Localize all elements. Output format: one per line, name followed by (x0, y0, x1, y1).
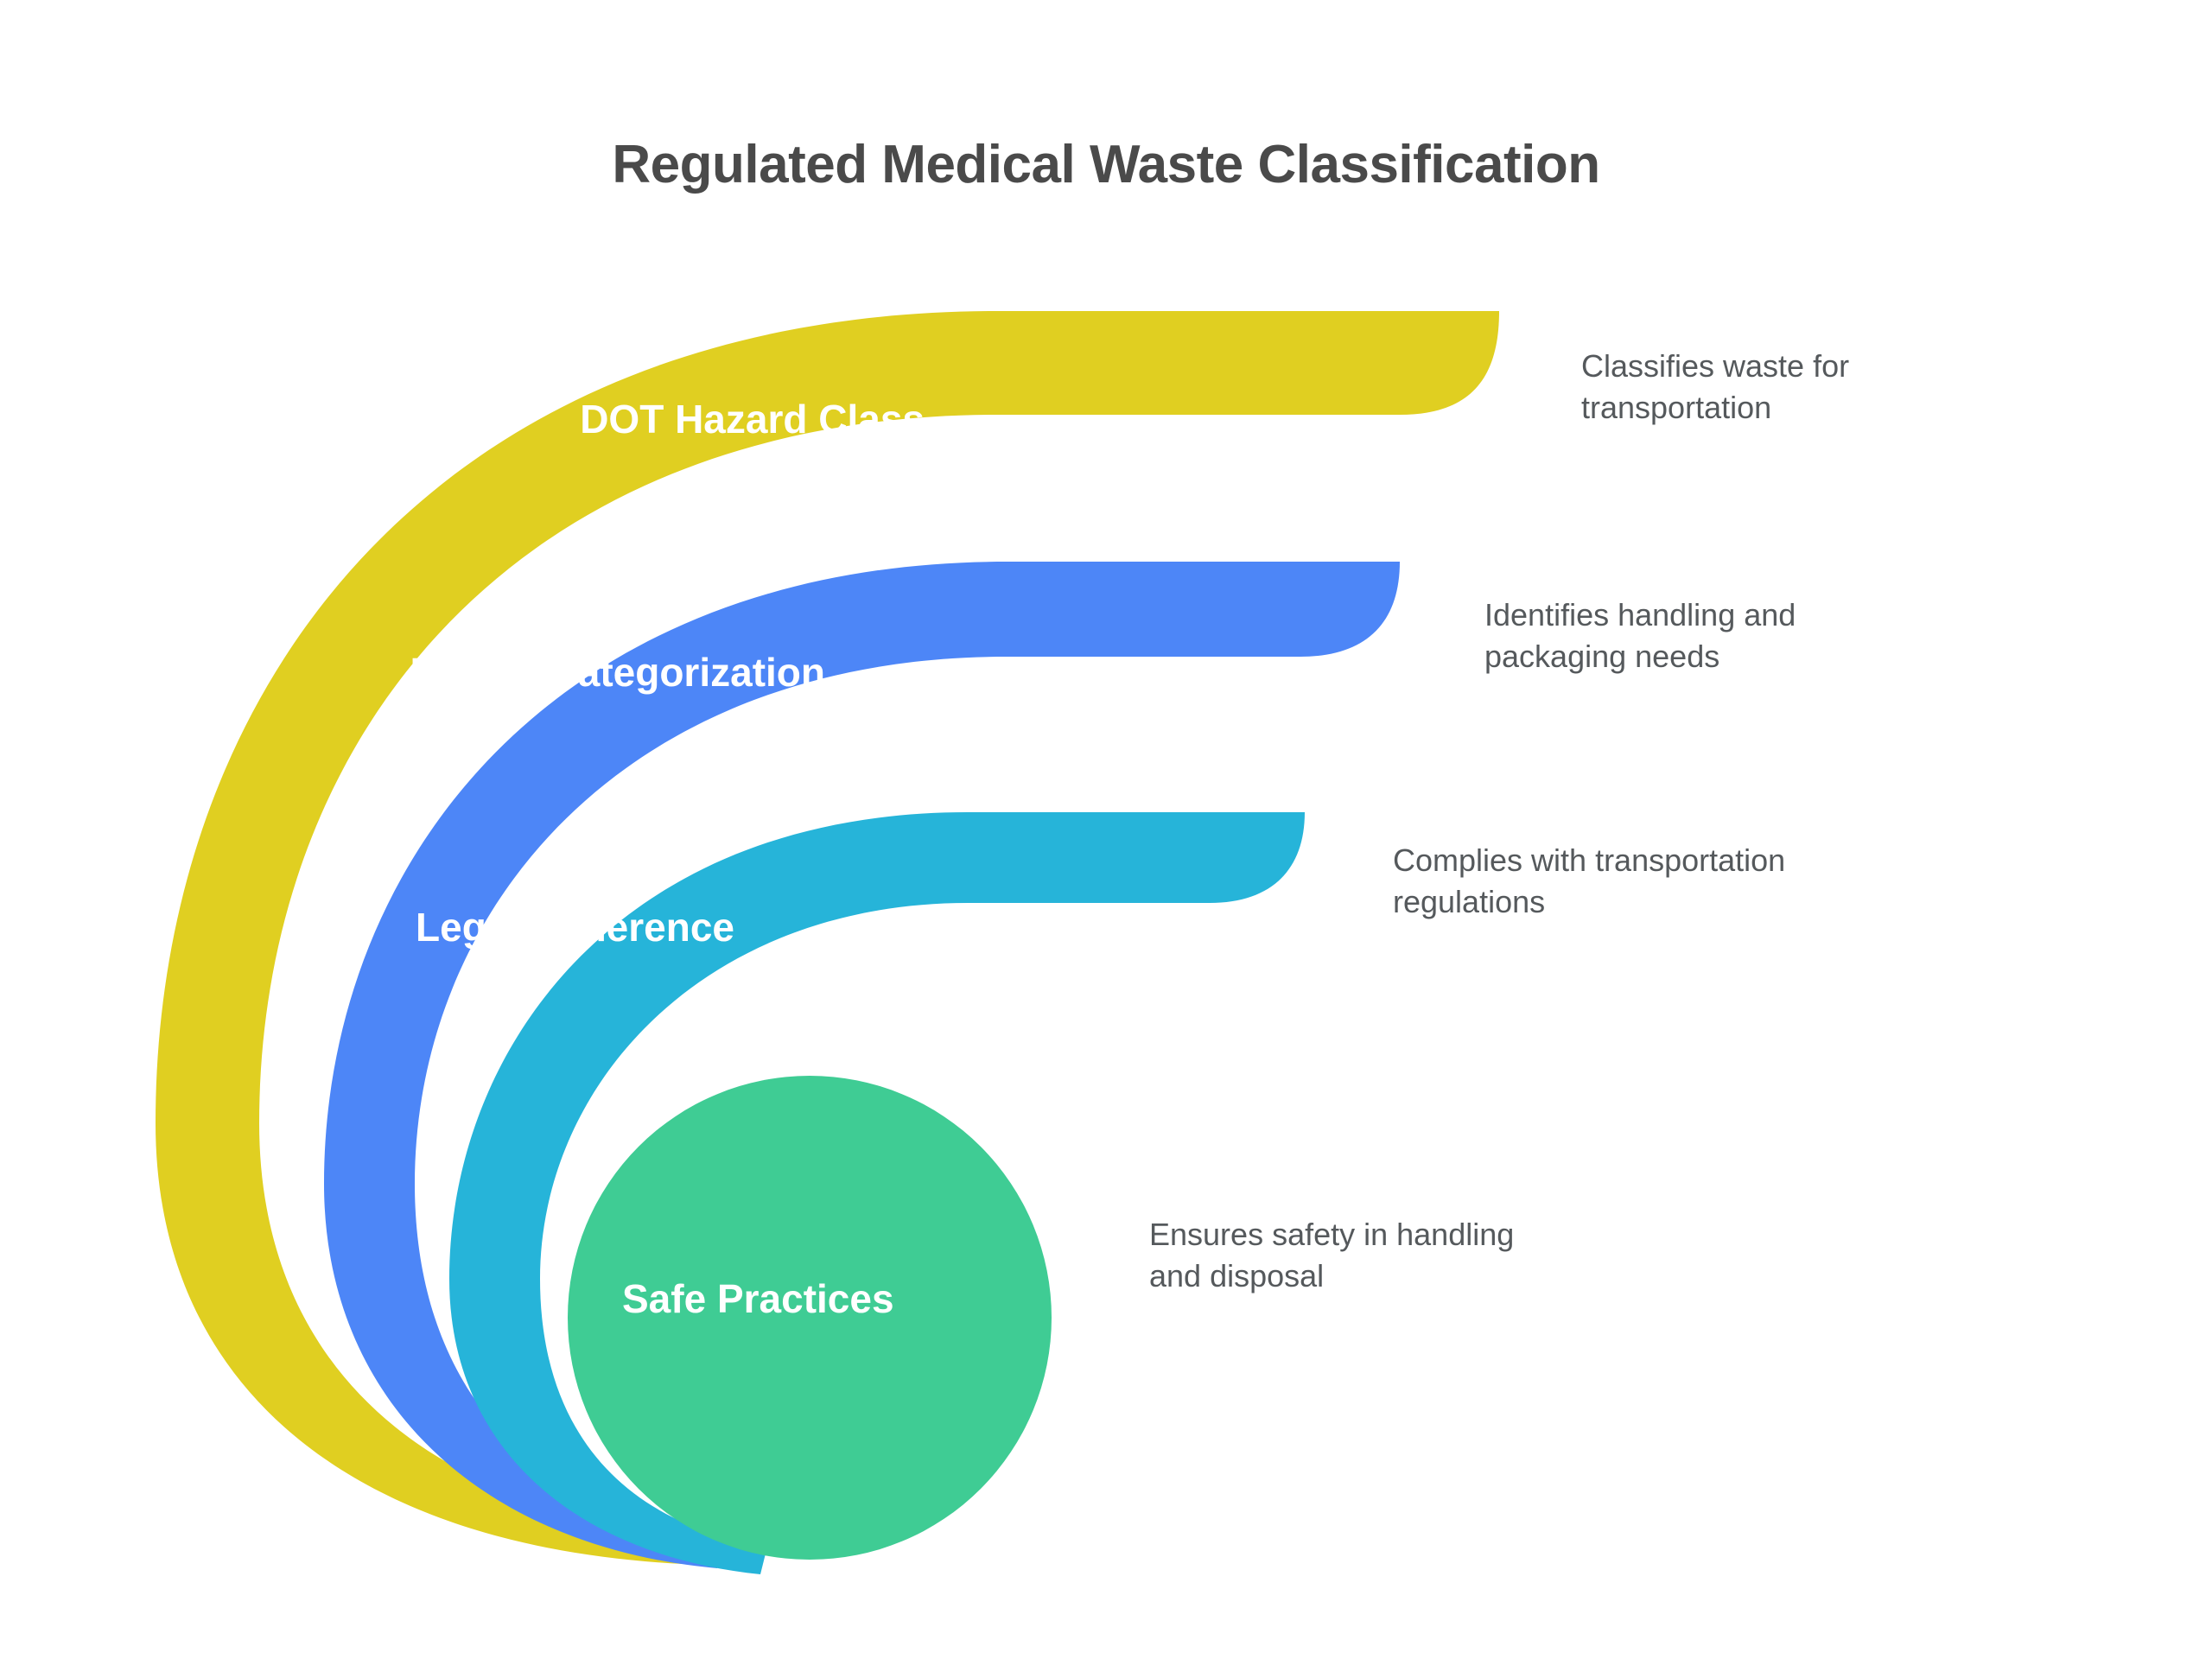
layer-description-legal-adherence: Complies with transportation regulations (1393, 840, 1785, 922)
layer-description-dot-hazard-class: Classifies waste for transportation (1581, 346, 1849, 428)
layer-label-safe-practices: Safe Practices (622, 1275, 894, 1322)
nested-spiral-diagram (0, 0, 2212, 1678)
layer-label-proper-categorization: Proper Categorization (410, 649, 825, 696)
layer-label-legal-adherence: Legal Adherence (416, 904, 734, 950)
layer-label-dot-hazard-class: DOT Hazard Class (580, 396, 925, 442)
layer-description-proper-categorization: Identifies handling and packaging needs (1484, 594, 1796, 677)
layer-description-safe-practices: Ensures safety in handling and disposal (1149, 1214, 1514, 1296)
